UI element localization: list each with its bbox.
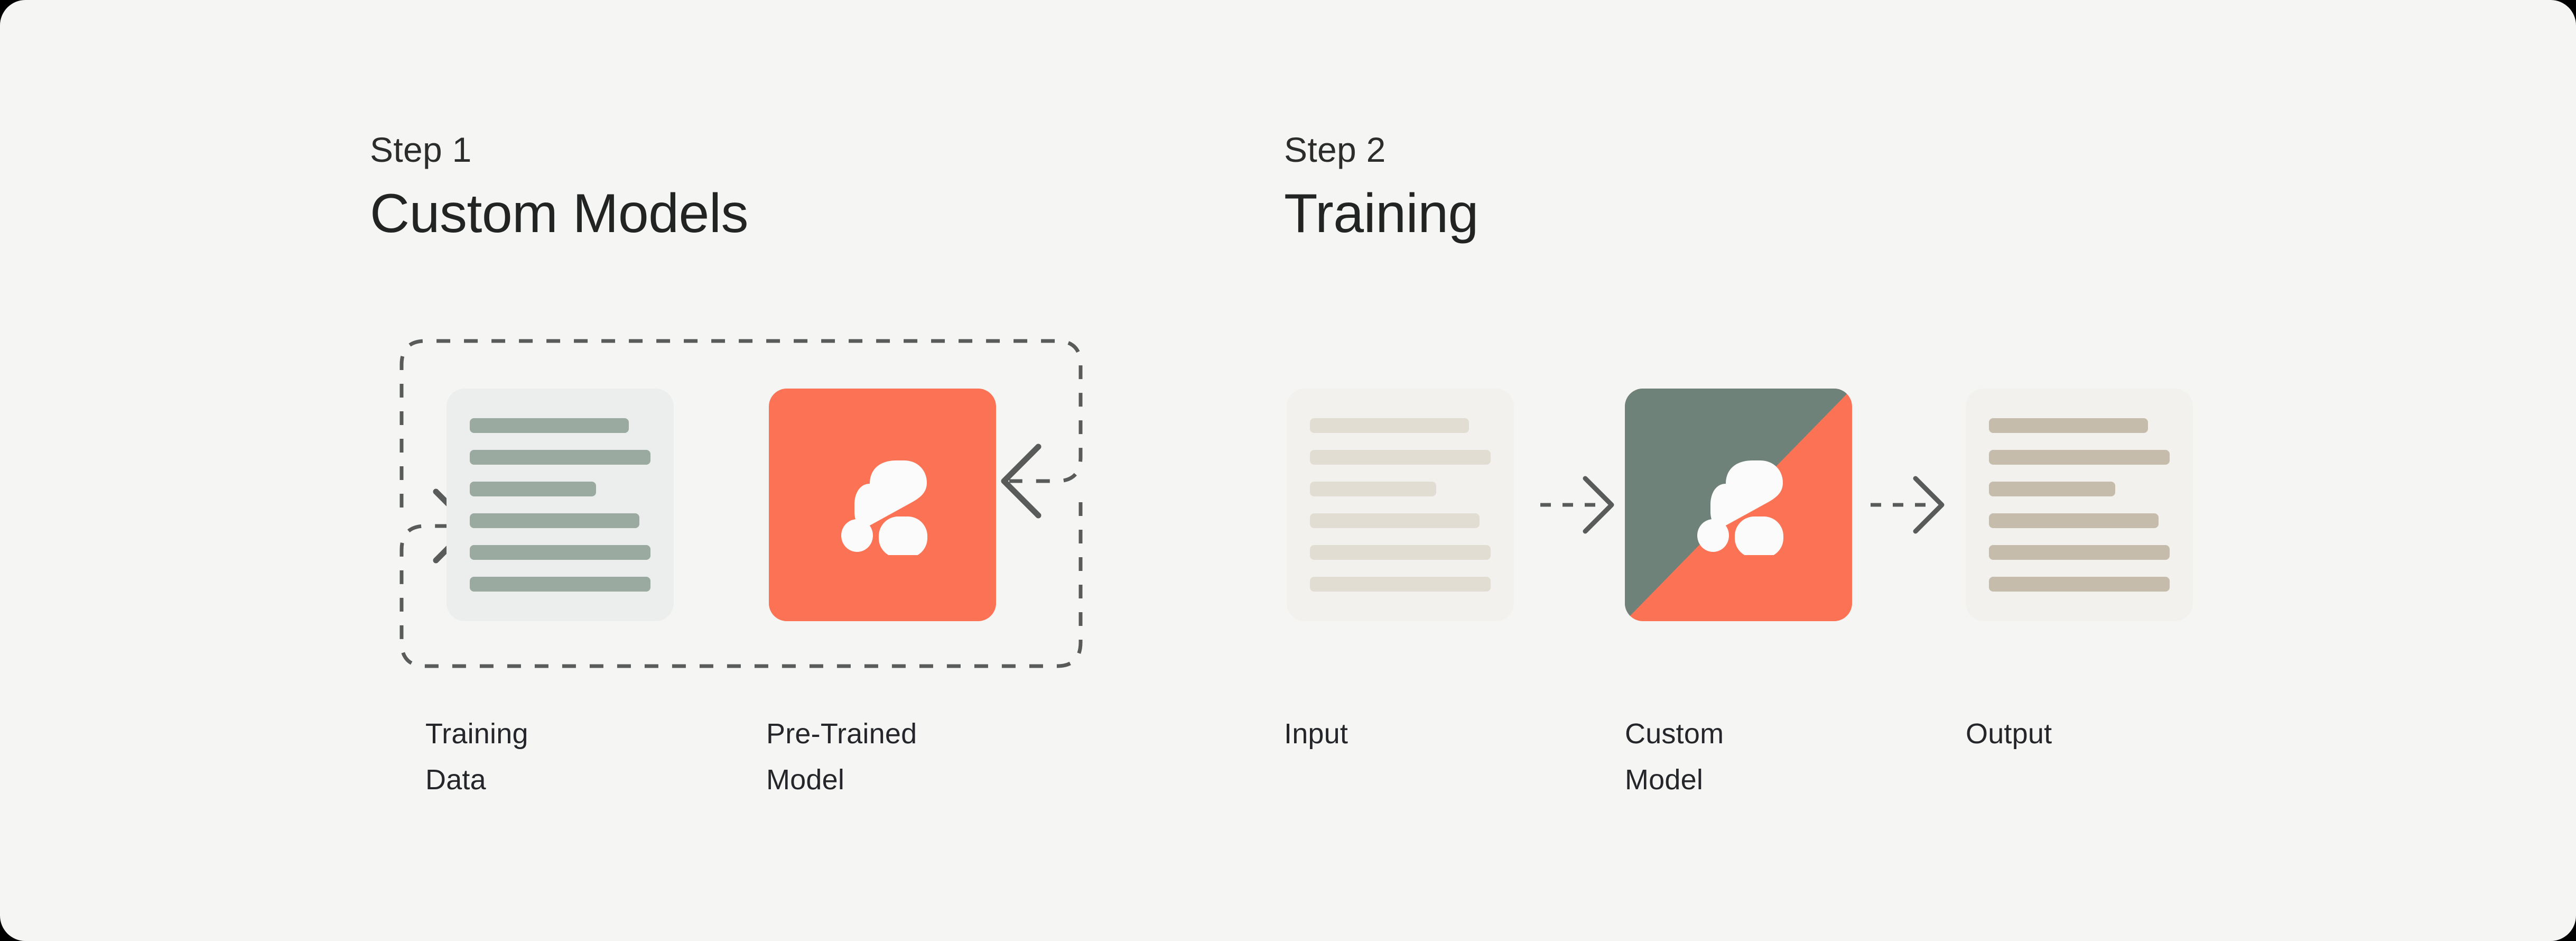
doc-line (1989, 418, 2148, 433)
diagram-canvas: Step 1 Custom Models Step 2 Training Tra… (0, 0, 2576, 941)
card-input[interactable] (1287, 389, 1514, 621)
doc-line (1989, 513, 2159, 528)
caption-input: Input (1284, 711, 1348, 757)
card-custom-model[interactable] (1625, 389, 1852, 621)
caption-training-data: Training Data (425, 711, 528, 804)
doc-line (1989, 545, 2170, 560)
card-output[interactable] (1966, 389, 2193, 621)
caption-custom-model: Custom Model (1625, 711, 1724, 804)
doc-line (1989, 482, 2115, 496)
custom-model-logo-icon (830, 455, 935, 555)
caption-pre-trained-model: Pre-Trained Model (766, 711, 917, 804)
doc-line (470, 418, 629, 433)
doc-line (470, 577, 650, 592)
doc-line (1310, 418, 1469, 433)
flow-arrow-1-head (1585, 478, 1612, 531)
doc-line (1310, 577, 1491, 592)
doc-line (1989, 577, 2170, 592)
card-pre-trained-model[interactable] (769, 389, 996, 621)
feedback-arrowhead-left (1004, 447, 1038, 515)
step-1-heading-block: Step 1 Custom Models (370, 132, 748, 241)
step-2-heading-block: Step 2 Training (1284, 132, 1478, 241)
caption-output: Output (1966, 711, 2052, 757)
doc-line (1989, 450, 2170, 465)
doc-line (470, 545, 650, 560)
doc-line (1310, 450, 1491, 465)
doc-line (470, 482, 596, 496)
flow-arrow-2-head (1915, 478, 1942, 531)
card-training-data[interactable] (447, 389, 674, 621)
step-1-title: Custom Models (370, 186, 748, 241)
doc-line (1310, 513, 1480, 528)
custom-model-logo-icon (1686, 455, 1791, 555)
doc-line (470, 450, 650, 465)
step-2-eyebrow: Step 2 (1284, 132, 1478, 167)
step-2-title: Training (1284, 186, 1478, 241)
doc-line (470, 513, 639, 528)
step-1-eyebrow: Step 1 (370, 132, 748, 167)
doc-line (1310, 482, 1436, 496)
doc-line (1310, 545, 1491, 560)
